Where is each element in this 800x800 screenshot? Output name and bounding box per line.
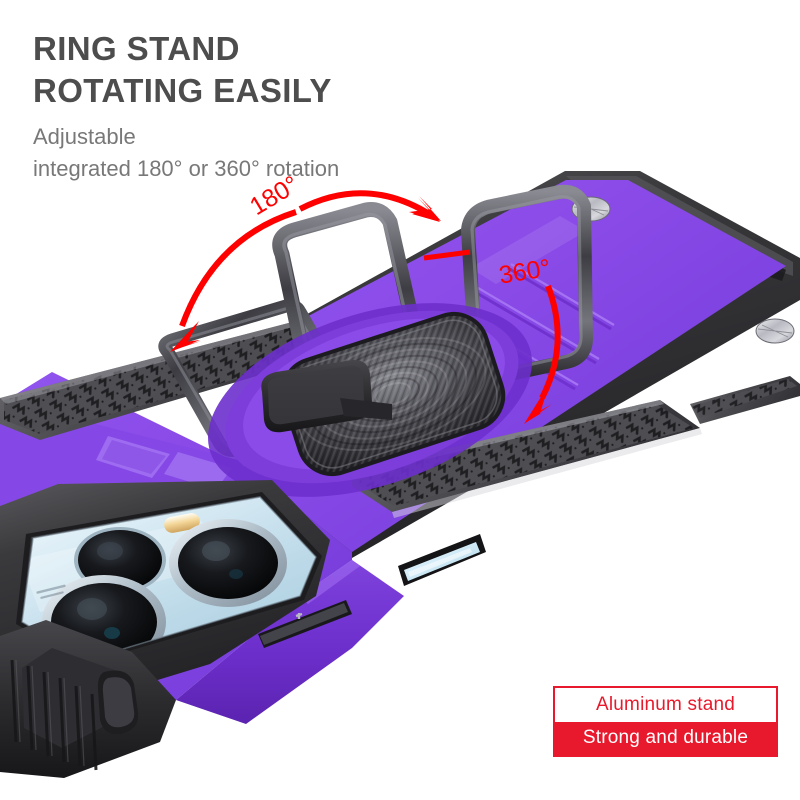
feature-badge-bottom: Strong and durable xyxy=(555,722,776,756)
headline-line-2: ROTATING EASILY xyxy=(33,70,553,112)
product-image-canvas: RING STAND ROTATING EASILY Adjustable in… xyxy=(0,0,800,800)
headline-line-1: RING STAND xyxy=(33,28,553,70)
headline-block: RING STAND ROTATING EASILY Adjustable in… xyxy=(33,28,553,184)
feature-badge-top: Aluminum stand xyxy=(555,688,776,722)
subheadline-block: Adjustable integrated 180° or 360° rotat… xyxy=(33,121,553,183)
camera-lens-main xyxy=(169,519,287,607)
subheadline-line-1: Adjustable xyxy=(33,121,553,152)
power-button[interactable] xyxy=(398,534,486,586)
feature-badge: Aluminum stand Strong and durable xyxy=(553,686,778,757)
